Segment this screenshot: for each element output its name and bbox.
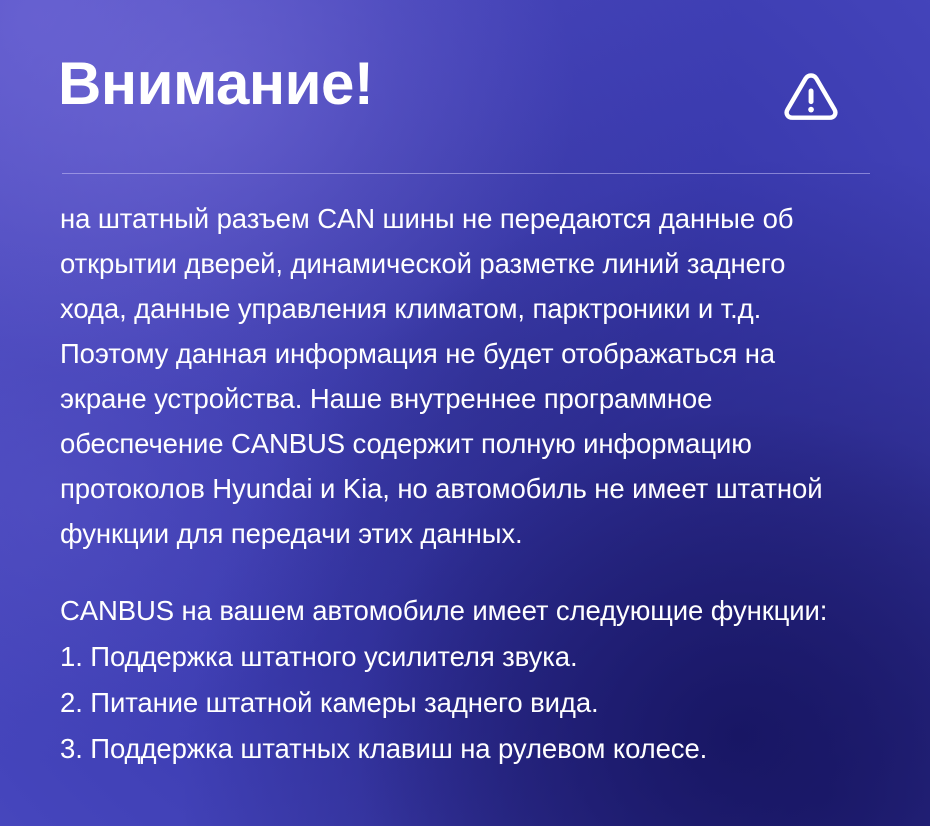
warning-triangle-icon: [778, 64, 844, 130]
intro-line: протоколов Hyundai и Kia, но автомобиль …: [60, 466, 870, 511]
warning-banner: Внимание! на штатный разъем CAN шины не …: [0, 0, 930, 826]
intro-paragraph: на штатный разъем CAN шины не передаются…: [60, 196, 870, 556]
intro-line: хода, данные управления климатом, парктр…: [60, 286, 870, 331]
banner-content: Внимание! на штатный разъем CAN шины не …: [0, 0, 930, 826]
list-item: 2. Питание штатной камеры заднего вида.: [60, 680, 870, 726]
intro-line: на штатный разъем CAN шины не передаются…: [60, 196, 870, 241]
intro-line: экране устройства. Наше внутреннее прогр…: [60, 376, 870, 421]
list-item: 3. Поддержка штатных клавиш на рулевом к…: [60, 726, 870, 772]
intro-line: Поэтому данная информация не будет отобр…: [60, 331, 870, 376]
list-item: 1. Поддержка штатного усилителя звука.: [60, 634, 870, 680]
banner-header: Внимание!: [60, 0, 870, 174]
features-block: CANBUS на вашем автомобиле имеет следующ…: [60, 588, 870, 772]
intro-line: открытии дверей, динамической разметке л…: [60, 241, 870, 286]
banner-body: на штатный разъем CAN шины не передаются…: [60, 174, 870, 772]
intro-line: обеспечение CANBUS содержит полную инфор…: [60, 421, 870, 466]
intro-line: функции для передачи этих данных.: [60, 511, 870, 556]
features-list: 1. Поддержка штатного усилителя звука. 2…: [60, 634, 870, 772]
features-heading: CANBUS на вашем автомобиле имеет следующ…: [60, 588, 870, 634]
page-title: Внимание!: [58, 54, 373, 114]
